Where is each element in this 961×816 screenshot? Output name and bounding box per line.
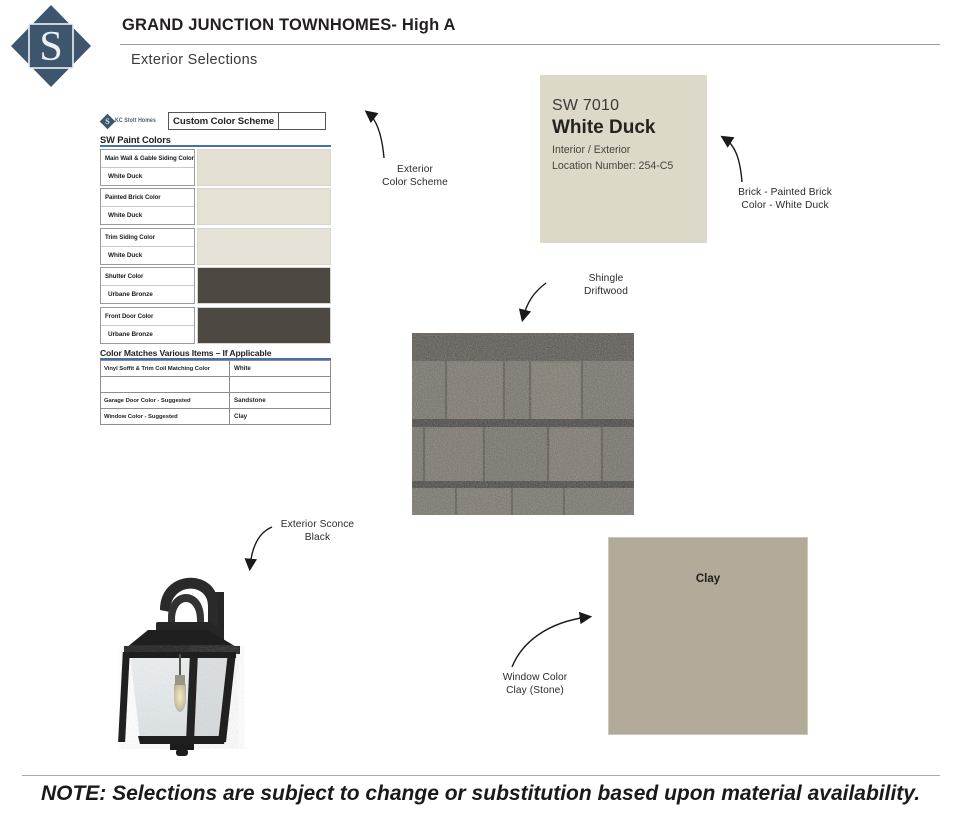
annotation-shingle: ShingleDriftwood [556, 272, 656, 298]
arrow-color-scheme [368, 113, 384, 158]
annotation-sconce: Exterior SconceBlack [255, 518, 380, 544]
annotation-color-scheme: ExteriorColor Scheme [360, 163, 470, 189]
footer-divider [22, 775, 940, 776]
footer-note: NOTE: Selections are subject to change o… [0, 782, 961, 806]
arrow-window-color [512, 617, 588, 667]
annotation-brick: Brick - Painted BrickColor - White Duck [715, 186, 855, 212]
annotation-window-color: Window ColorClay (Stone) [470, 671, 600, 697]
arrow-shingle [523, 283, 546, 318]
arrow-brick [724, 138, 742, 182]
